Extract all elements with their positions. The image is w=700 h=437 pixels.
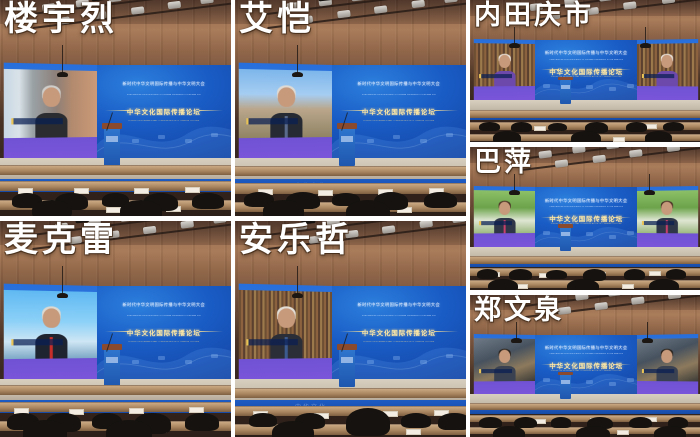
speaker-video-screen-left	[473, 186, 534, 251]
banner-title: 新时代中华文明国际传播与中华文明大会	[107, 81, 220, 86]
banner-title: 新时代中华文明国际传播与中华文明大会	[543, 50, 629, 55]
banner-title-english: International Communication of Chinese C…	[545, 206, 627, 208]
panel-uchida-keiichi[interactable]: 新时代中华文明国际传播与中华文明大会 International Communi…	[470, 0, 700, 142]
hanging-lamp-right	[647, 322, 648, 339]
hanging-lamp	[62, 266, 63, 294]
speaker-video-screen-left	[473, 333, 534, 398]
banner-title-english: International Communication of Chinese C…	[545, 59, 627, 61]
speaker-video-screen-right	[637, 333, 698, 398]
banner-title-english: International Communication of Chinese C…	[345, 94, 453, 96]
banner-title: 新时代中华文明国际传播与中华文明大会	[342, 302, 455, 307]
speaker-video-image	[4, 69, 97, 138]
speaker-video-screen	[239, 62, 332, 164]
photo-collage: 新时代中华文明国际传播与中华文明大会 International Communi…	[0, 0, 700, 437]
banner-title-english: International Communication of Chinese C…	[345, 315, 453, 317]
hanging-lamp-right	[649, 174, 650, 191]
banner-title-english: International Communication of Chinese C…	[110, 315, 218, 317]
collage-right-column: 新时代中华文明国际传播与中华文明大会 International Communi…	[470, 0, 700, 437]
speaker-portrait	[270, 308, 302, 358]
speaker-portrait	[35, 308, 67, 358]
audience-area	[470, 247, 700, 290]
panel-ba-ping[interactable]: 新时代中华文明国际传播与中华文明大会 International Communi…	[470, 147, 700, 289]
speaker-portrait	[657, 202, 678, 234]
panel-ai-kai[interactable]: 新时代中华文明国际传播与中华文明大会 International Communi…	[235, 0, 466, 216]
speaker-video-screen	[239, 283, 332, 385]
hanging-lamp	[297, 266, 298, 294]
audience-area	[470, 100, 700, 143]
main-banner-screen: 新时代中华文明国际传播与中华文明大会 International Communi…	[535, 335, 638, 398]
audience-area	[0, 379, 231, 437]
audience-area	[470, 394, 700, 437]
speaker-name-strap	[11, 118, 62, 124]
hanging-lamp	[514, 27, 515, 44]
banner-title: 新时代中华文明国际传播与中华文明大会	[342, 81, 455, 86]
banner-title-english: International Communication of Chinese C…	[110, 94, 218, 96]
speaker-portrait	[494, 349, 515, 381]
speaker-video-screen	[4, 62, 97, 164]
speaker-video-screen	[4, 283, 97, 385]
banner-title: 新时代中华文明国际传播与中华文明大会	[543, 345, 629, 350]
hanging-lamp	[516, 322, 517, 339]
speaker-video-screen-left	[473, 39, 534, 104]
collage-row-bottom: 新时代中华文明国际传播与中华文明大会 International Communi…	[0, 221, 466, 437]
audience-area	[235, 158, 466, 216]
speaker-portrait	[657, 54, 678, 86]
banner-title-english: International Communication of Chinese C…	[545, 353, 627, 355]
speaker-video-screen-right	[637, 39, 698, 104]
speaker-video-screen-right	[637, 186, 698, 251]
speaker-portrait	[35, 87, 67, 137]
speaker-portrait	[494, 54, 515, 86]
audience-area	[0, 158, 231, 216]
hanging-lamp-right	[645, 27, 646, 44]
banner-title: 新时代中华文明国际传播与中华文明大会	[107, 302, 220, 307]
collage-row-top: 新时代中华文明国际传播与中华文明大会 International Communi…	[0, 0, 466, 216]
main-banner-screen: 新时代中华文明国际传播与中华文明大会 International Communi…	[535, 187, 638, 250]
hanging-lamp	[297, 45, 298, 73]
collage-left-column: 新时代中华文明国际传播与中华文明大会 International Communi…	[0, 0, 466, 437]
panel-zheng-wenquan[interactable]: 新时代中华文明国际传播与中华文明大会 International Communi…	[470, 295, 700, 437]
banner-title: 新时代中华文明国际传播与中华文明大会	[543, 198, 629, 203]
hanging-lamp	[62, 45, 63, 73]
panel-mai-kelei[interactable]: 新时代中华文明国际传播与中华文明大会 International Communi…	[0, 221, 231, 437]
speaker-portrait	[494, 202, 515, 234]
speaker-portrait	[657, 349, 678, 381]
panel-lou-yulie[interactable]: 新时代中华文明国际传播与中华文明大会 International Communi…	[0, 0, 231, 216]
speaker-portrait	[270, 87, 302, 137]
audience-area	[235, 379, 466, 437]
panel-an-lezhe[interactable]: 新时代中华文明国际传播与中华文明大会 International Communi…	[235, 221, 466, 437]
main-banner-screen: 新时代中华文明国际传播与中华文明大会 International Communi…	[535, 40, 638, 103]
hanging-lamp	[514, 174, 515, 191]
